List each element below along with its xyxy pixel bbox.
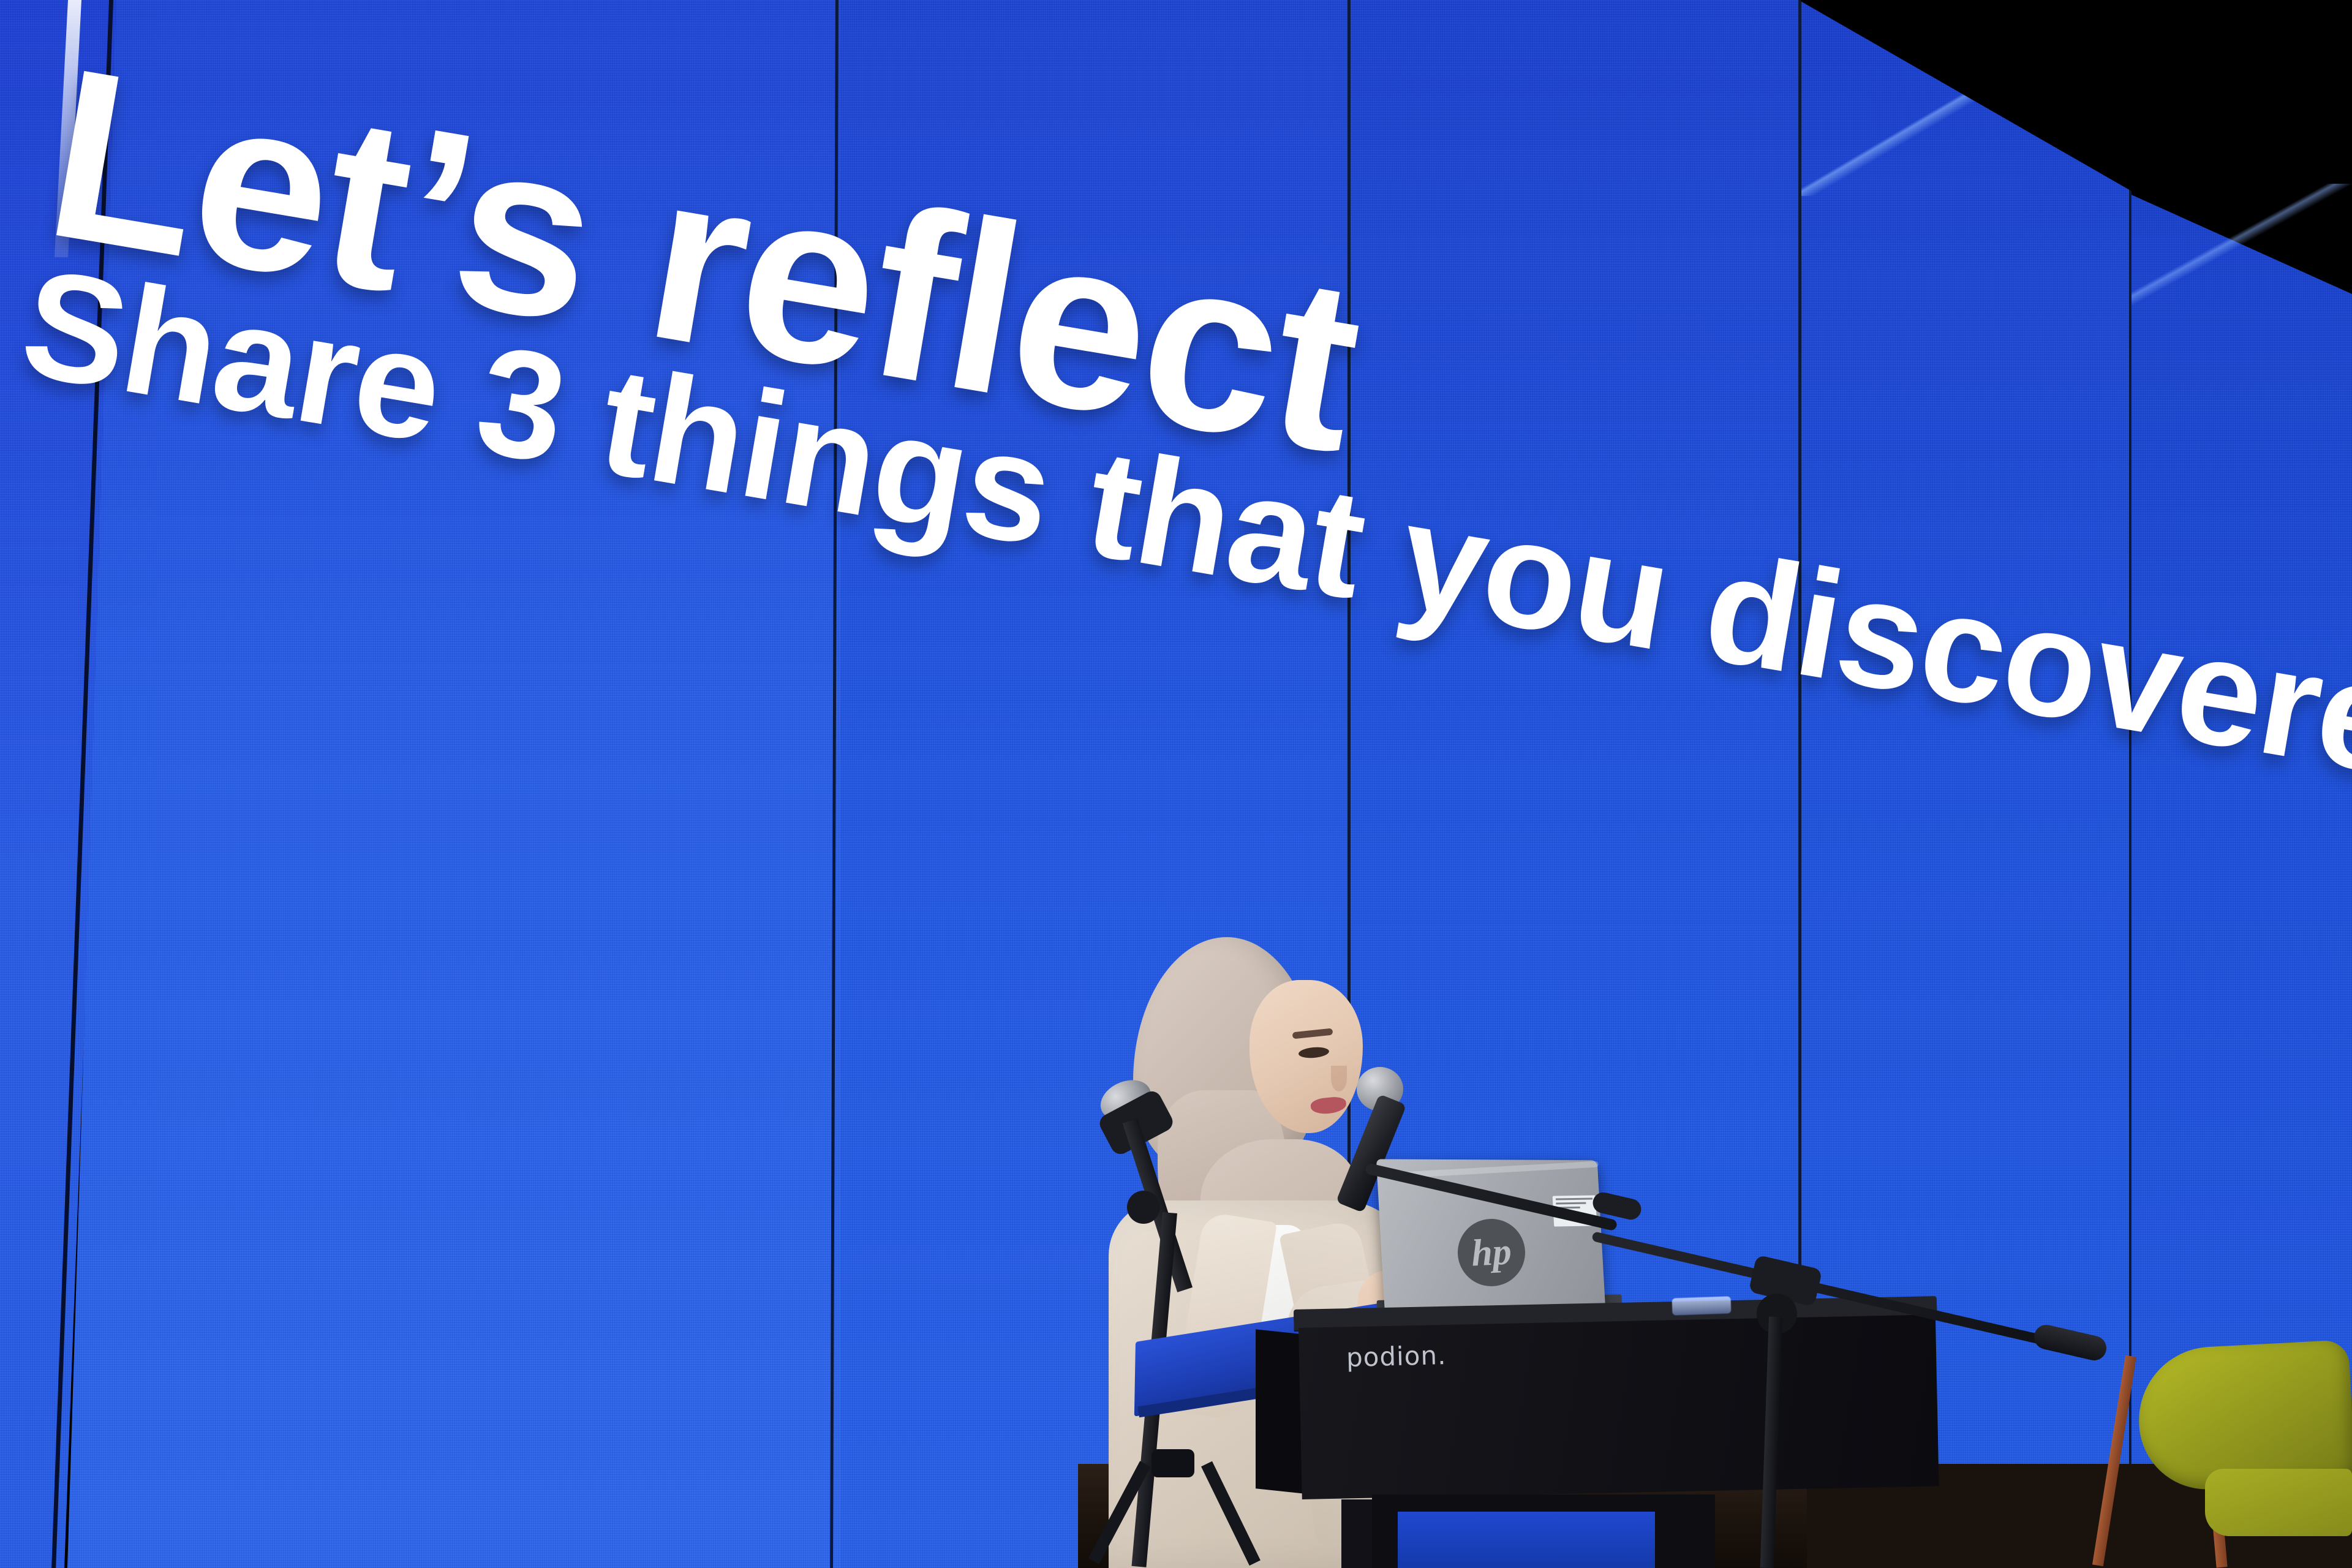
mic-stand-left-collar — [1151, 1449, 1194, 1477]
led-panel-6 — [2131, 0, 2352, 1568]
chair-seat — [2205, 1469, 2352, 1536]
podium-water-glass — [1672, 1296, 1732, 1315]
podium-lower-shelf — [1398, 1512, 1655, 1568]
led-panel-2 — [67, 0, 845, 1568]
podium-brand-label: podion. — [1346, 1340, 1447, 1373]
mic-stand-left-joint — [1127, 1191, 1160, 1224]
stage-scene: Let’s reflect Share 3 things that you di… — [0, 0, 2352, 1568]
nose — [1331, 1066, 1347, 1091]
